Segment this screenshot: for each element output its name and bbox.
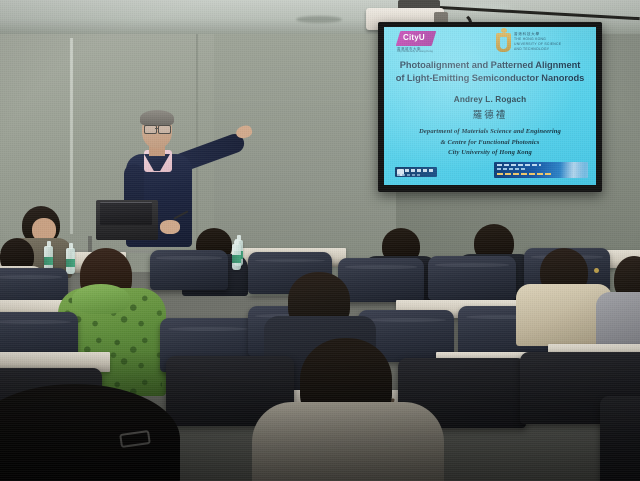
presentation-slide: CityU 香港城市大學 City University of Hong Kon…	[384, 27, 596, 185]
cityu-wordmark: CityU	[403, 33, 425, 42]
bottle-label	[232, 255, 241, 263]
slide-author-chinese-name: 羅德禮	[384, 107, 596, 121]
slide-affiliation: Department of Materials Science and Engi…	[384, 127, 596, 159]
conference-banner	[494, 162, 588, 178]
presenter-hair	[140, 110, 174, 126]
hkust-logo-text: 香港科技大學 THE HONG KONG UNIVERSITY OF SCIEN…	[514, 32, 561, 52]
lecture-hall-photo: CityU 香港城市大學 City University of Hong Kon…	[0, 0, 640, 481]
affiliation-line-3: City University of Hong Kong	[384, 148, 596, 159]
ceiling-light-icon	[296, 16, 342, 23]
conference-banner-line-2	[497, 168, 527, 170]
chair-row2-2[interactable]	[150, 250, 228, 290]
water-bottle-4	[232, 244, 241, 270]
presenter-left-hand	[160, 220, 180, 234]
bottle-label	[66, 259, 75, 267]
green-hoodie-hood	[72, 284, 130, 314]
sponsor-badge	[395, 167, 437, 177]
chair-row2-5[interactable]	[428, 256, 516, 300]
glasses-icon-left-lens	[144, 125, 157, 134]
chair-row2-4[interactable]	[338, 258, 424, 302]
slide-title-line-1: Photoalignment and Patterned Alignment	[390, 59, 590, 72]
audience-member-front-hoodie	[252, 402, 444, 481]
water-bottle-2	[66, 248, 75, 274]
sponsor-badge-subtext	[397, 174, 421, 176]
slide-author-name: Andrey L. Rogach	[384, 95, 596, 104]
audience-member-foreground-left	[0, 384, 180, 481]
hkust-logo: 香港科技大學 THE HONG KONG UNIVERSITY OF SCIEN…	[496, 30, 588, 54]
affiliation-line-2: & Centre for Functional Photonics	[384, 138, 596, 149]
chair-knob-1	[594, 268, 599, 273]
hkust-line-3: AND TECHNOLOGY	[514, 47, 561, 52]
affiliation-line-1: Department of Materials Science and Engi…	[384, 127, 596, 138]
laptop-on-podium	[100, 202, 152, 225]
cityu-english-name: City University of Hong Kong	[397, 50, 433, 53]
bottle-label	[44, 257, 53, 265]
conference-banner-line-3	[497, 173, 553, 176]
hkust-shield-icon	[496, 33, 511, 52]
wall-band	[110, 100, 410, 102]
slide-title-line-2: of Light-Emitting Semiconductor Nanorods	[390, 72, 590, 85]
conference-banner-highlight	[542, 162, 588, 178]
sponsor-badge-text	[405, 169, 434, 173]
conference-banner-line-1	[497, 164, 541, 166]
glasses-icon-right-lens	[158, 125, 171, 134]
cityu-logo: CityU 香港城市大學 City University of Hong Kon…	[396, 31, 436, 53]
wall-seam	[70, 38, 73, 234]
glasses-icon-bridge	[155, 128, 158, 129]
chair-row4-5[interactable]	[600, 396, 640, 481]
slide-title: Photoalignment and Patterned Alignment o…	[390, 59, 590, 85]
